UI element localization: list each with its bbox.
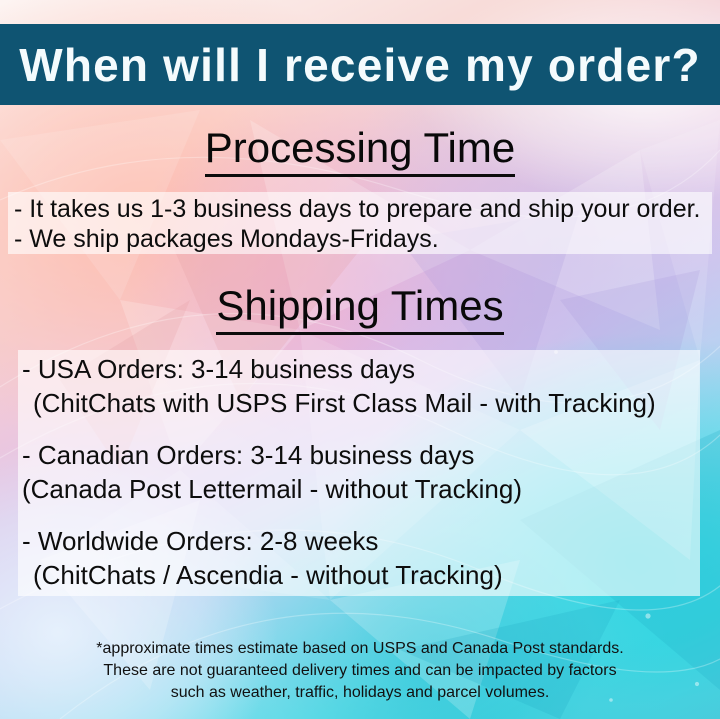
processing-time-text-block: - It takes us 1-3 business days to prepa… <box>14 194 714 254</box>
shipping-times-text-block: - USA Orders: 3-14 business days (ChitCh… <box>22 352 702 592</box>
processing-time-line: - It takes us 1-3 business days to prepa… <box>14 194 714 224</box>
footer-disclaimer: *approximate times estimate based on USP… <box>0 638 720 704</box>
shipping-entry-canada-carrier: (Canada Post Lettermail - without Tracki… <box>22 472 702 506</box>
section-heading-shipping-times-label: Shipping Times <box>216 282 503 335</box>
footer-disclaimer-line: *approximate times estimate based on USP… <box>0 638 720 660</box>
shipping-entry-usa-main: - USA Orders: 3-14 business days <box>22 352 702 386</box>
processing-time-line: - We ship packages Mondays-Fridays. <box>14 224 714 254</box>
title-banner: When will I receive my order? <box>0 24 720 105</box>
shipping-entry-canada-main: - Canadian Orders: 3-14 business days <box>22 438 702 472</box>
section-heading-shipping-times: Shipping Times <box>0 285 720 327</box>
infographic-poster: When will I receive my order? Processing… <box>0 0 720 719</box>
footer-disclaimer-line: These are not guaranteed delivery times … <box>0 660 720 682</box>
footer-disclaimer-line: such as weather, traffic, holidays and p… <box>0 682 720 704</box>
shipping-entry-worldwide-main: - Worldwide Orders: 2-8 weeks <box>22 524 702 558</box>
shipping-entry-usa-carrier: (ChitChats with USPS First Class Mail - … <box>22 386 702 420</box>
shipping-entry-worldwide: - Worldwide Orders: 2-8 weeks (ChitChats… <box>22 524 702 592</box>
page-title: When will I receive my order? <box>19 42 701 88</box>
shipping-entry-canada: - Canadian Orders: 3-14 business days (C… <box>22 438 702 506</box>
shipping-entry-worldwide-carrier: (ChitChats / Ascendia - without Tracking… <box>22 558 702 592</box>
section-heading-processing-time: Processing Time <box>0 127 720 169</box>
shipping-entry-usa: - USA Orders: 3-14 business days (ChitCh… <box>22 352 702 420</box>
section-heading-processing-time-label: Processing Time <box>205 124 515 177</box>
